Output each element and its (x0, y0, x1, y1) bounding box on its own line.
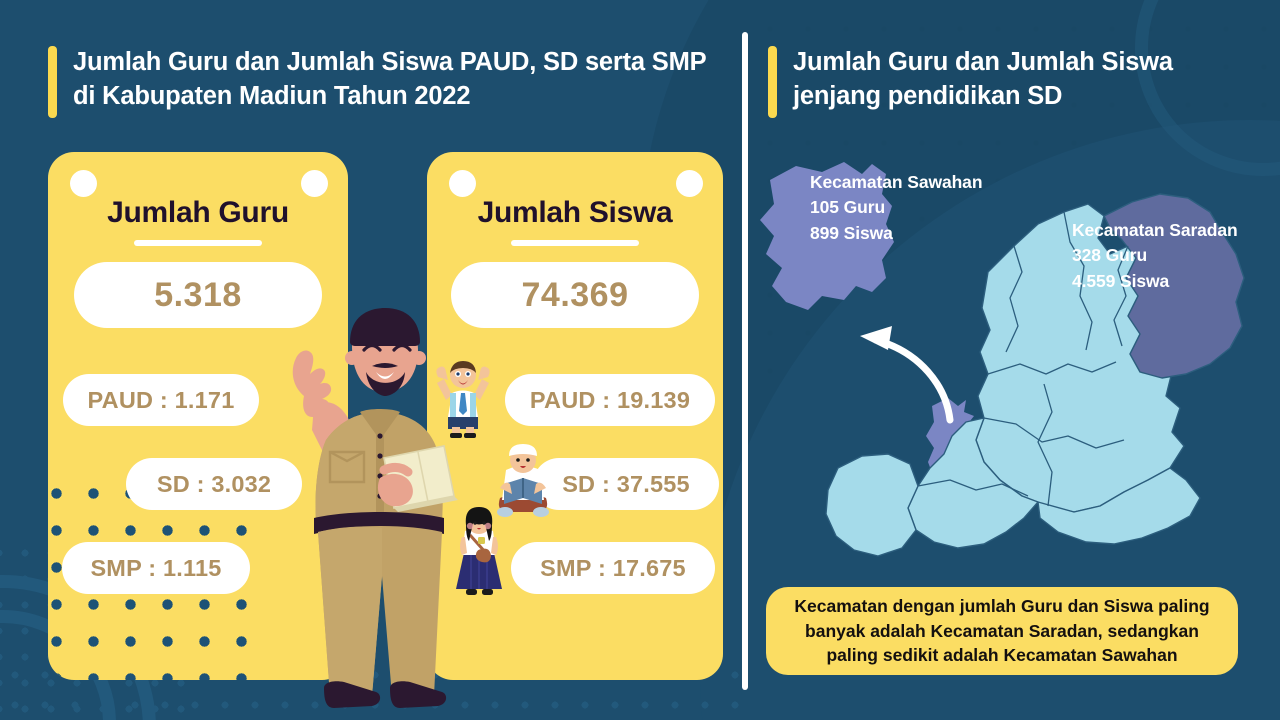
left-panel-title: Jumlah Guru dan Jumlah Siswa PAUD, SD se… (48, 46, 728, 118)
title-accent-bar (768, 46, 777, 118)
panel-divider (742, 32, 748, 690)
row-label-sd-siswa: SD : 37.555 (562, 471, 690, 498)
title-accent-bar (48, 46, 57, 118)
total-value-guru: 5.318 (154, 276, 242, 315)
map-caption-text: Kecamatan dengan jumlah Guru dan Siswa p… (780, 594, 1224, 669)
total-value-siswa: 74.369 (522, 276, 629, 315)
map-arrow-head (860, 326, 892, 350)
map-label-saradan: Kecamatan Saradan 328 Guru 4.559 Siswa (1072, 218, 1238, 294)
row-pill-paud-guru: PAUD : 1.171 (63, 374, 259, 426)
row-label-paud-guru: PAUD : 1.171 (88, 387, 235, 414)
right-title-text: Jumlah Guru dan Jumlah Siswa jenjang pen… (793, 46, 1238, 114)
card-underline (511, 240, 639, 246)
row-pill-paud-siswa: PAUD : 19.139 (505, 374, 715, 426)
map-caption-box: Kecamatan dengan jumlah Guru dan Siswa p… (766, 587, 1238, 675)
row-label-paud-siswa: PAUD : 19.139 (530, 387, 690, 414)
left-title-text: Jumlah Guru dan Jumlah Siswa PAUD, SD se… (73, 46, 728, 114)
row-label-smp-siswa: SMP : 17.675 (540, 555, 686, 582)
card-heading-guru: Jumlah Guru (48, 196, 348, 230)
row-pill-sd-siswa: SD : 37.555 (533, 458, 719, 510)
map-label-saradan-name: Kecamatan Saradan (1072, 218, 1238, 243)
student-cheering-illustration (432, 355, 494, 439)
punch-hole-right (301, 170, 328, 197)
punch-hole-left (449, 170, 476, 197)
row-pill-smp-siswa: SMP : 17.675 (511, 542, 715, 594)
row-label-smp-guru: SMP : 1.115 (90, 555, 221, 582)
map-label-sawahan-students: 899 Siswa (810, 221, 982, 246)
infographic-canvas: Jumlah Guru dan Jumlah Siswa PAUD, SD se… (0, 0, 1280, 720)
map-label-saradan-students: 4.559 Siswa (1072, 269, 1238, 294)
total-pill-siswa: 74.369 (451, 262, 699, 328)
map-label-sawahan: Kecamatan Sawahan 105 Guru 899 Siswa (810, 170, 982, 246)
map-region-west (826, 454, 918, 556)
right-panel-title: Jumlah Guru dan Jumlah Siswa jenjang pen… (768, 46, 1238, 118)
punch-hole-left (70, 170, 97, 197)
punch-hole-right (676, 170, 703, 197)
map-label-saradan-teachers: 328 Guru (1072, 243, 1238, 268)
map-label-sawahan-name: Kecamatan Sawahan (810, 170, 982, 195)
student-girl-illustration (450, 505, 508, 601)
card-underline (134, 240, 262, 246)
map-label-sawahan-teachers: 105 Guru (810, 195, 982, 220)
row-label-sd-guru: SD : 3.032 (157, 471, 271, 498)
row-pill-smp-guru: SMP : 1.115 (62, 542, 250, 594)
card-heading-siswa: Jumlah Siswa (427, 196, 723, 230)
